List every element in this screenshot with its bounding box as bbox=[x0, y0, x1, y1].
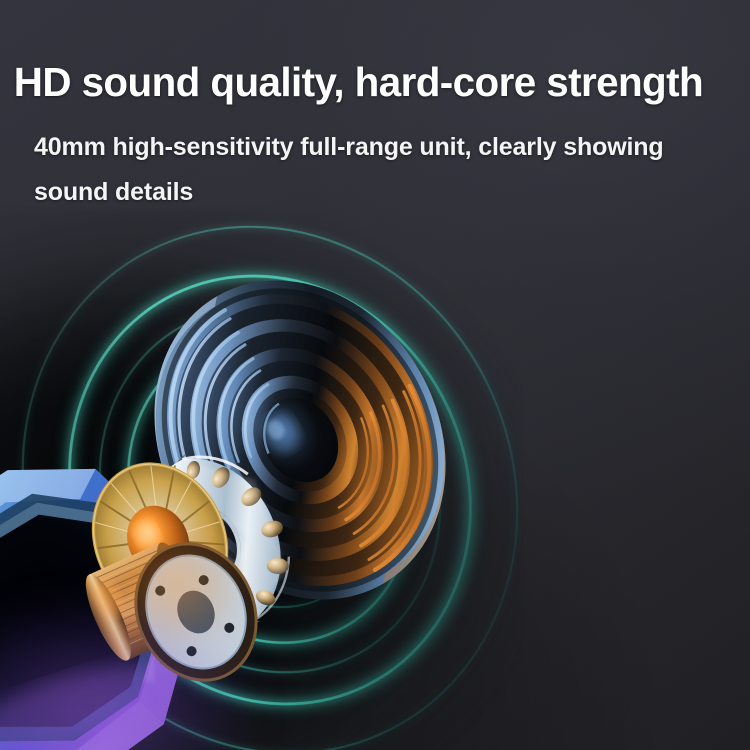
page-title: HD sound quality, hard-core strength bbox=[0, 0, 739, 103]
marketing-copy-block: HD sound quality, hard-core strength 40m… bbox=[0, 0, 750, 214]
product-feature-banner: HD sound quality, hard-core strength 40m… bbox=[0, 0, 750, 750]
subheading-text: 40mm high-sensitivity full-range unit, c… bbox=[0, 103, 712, 214]
